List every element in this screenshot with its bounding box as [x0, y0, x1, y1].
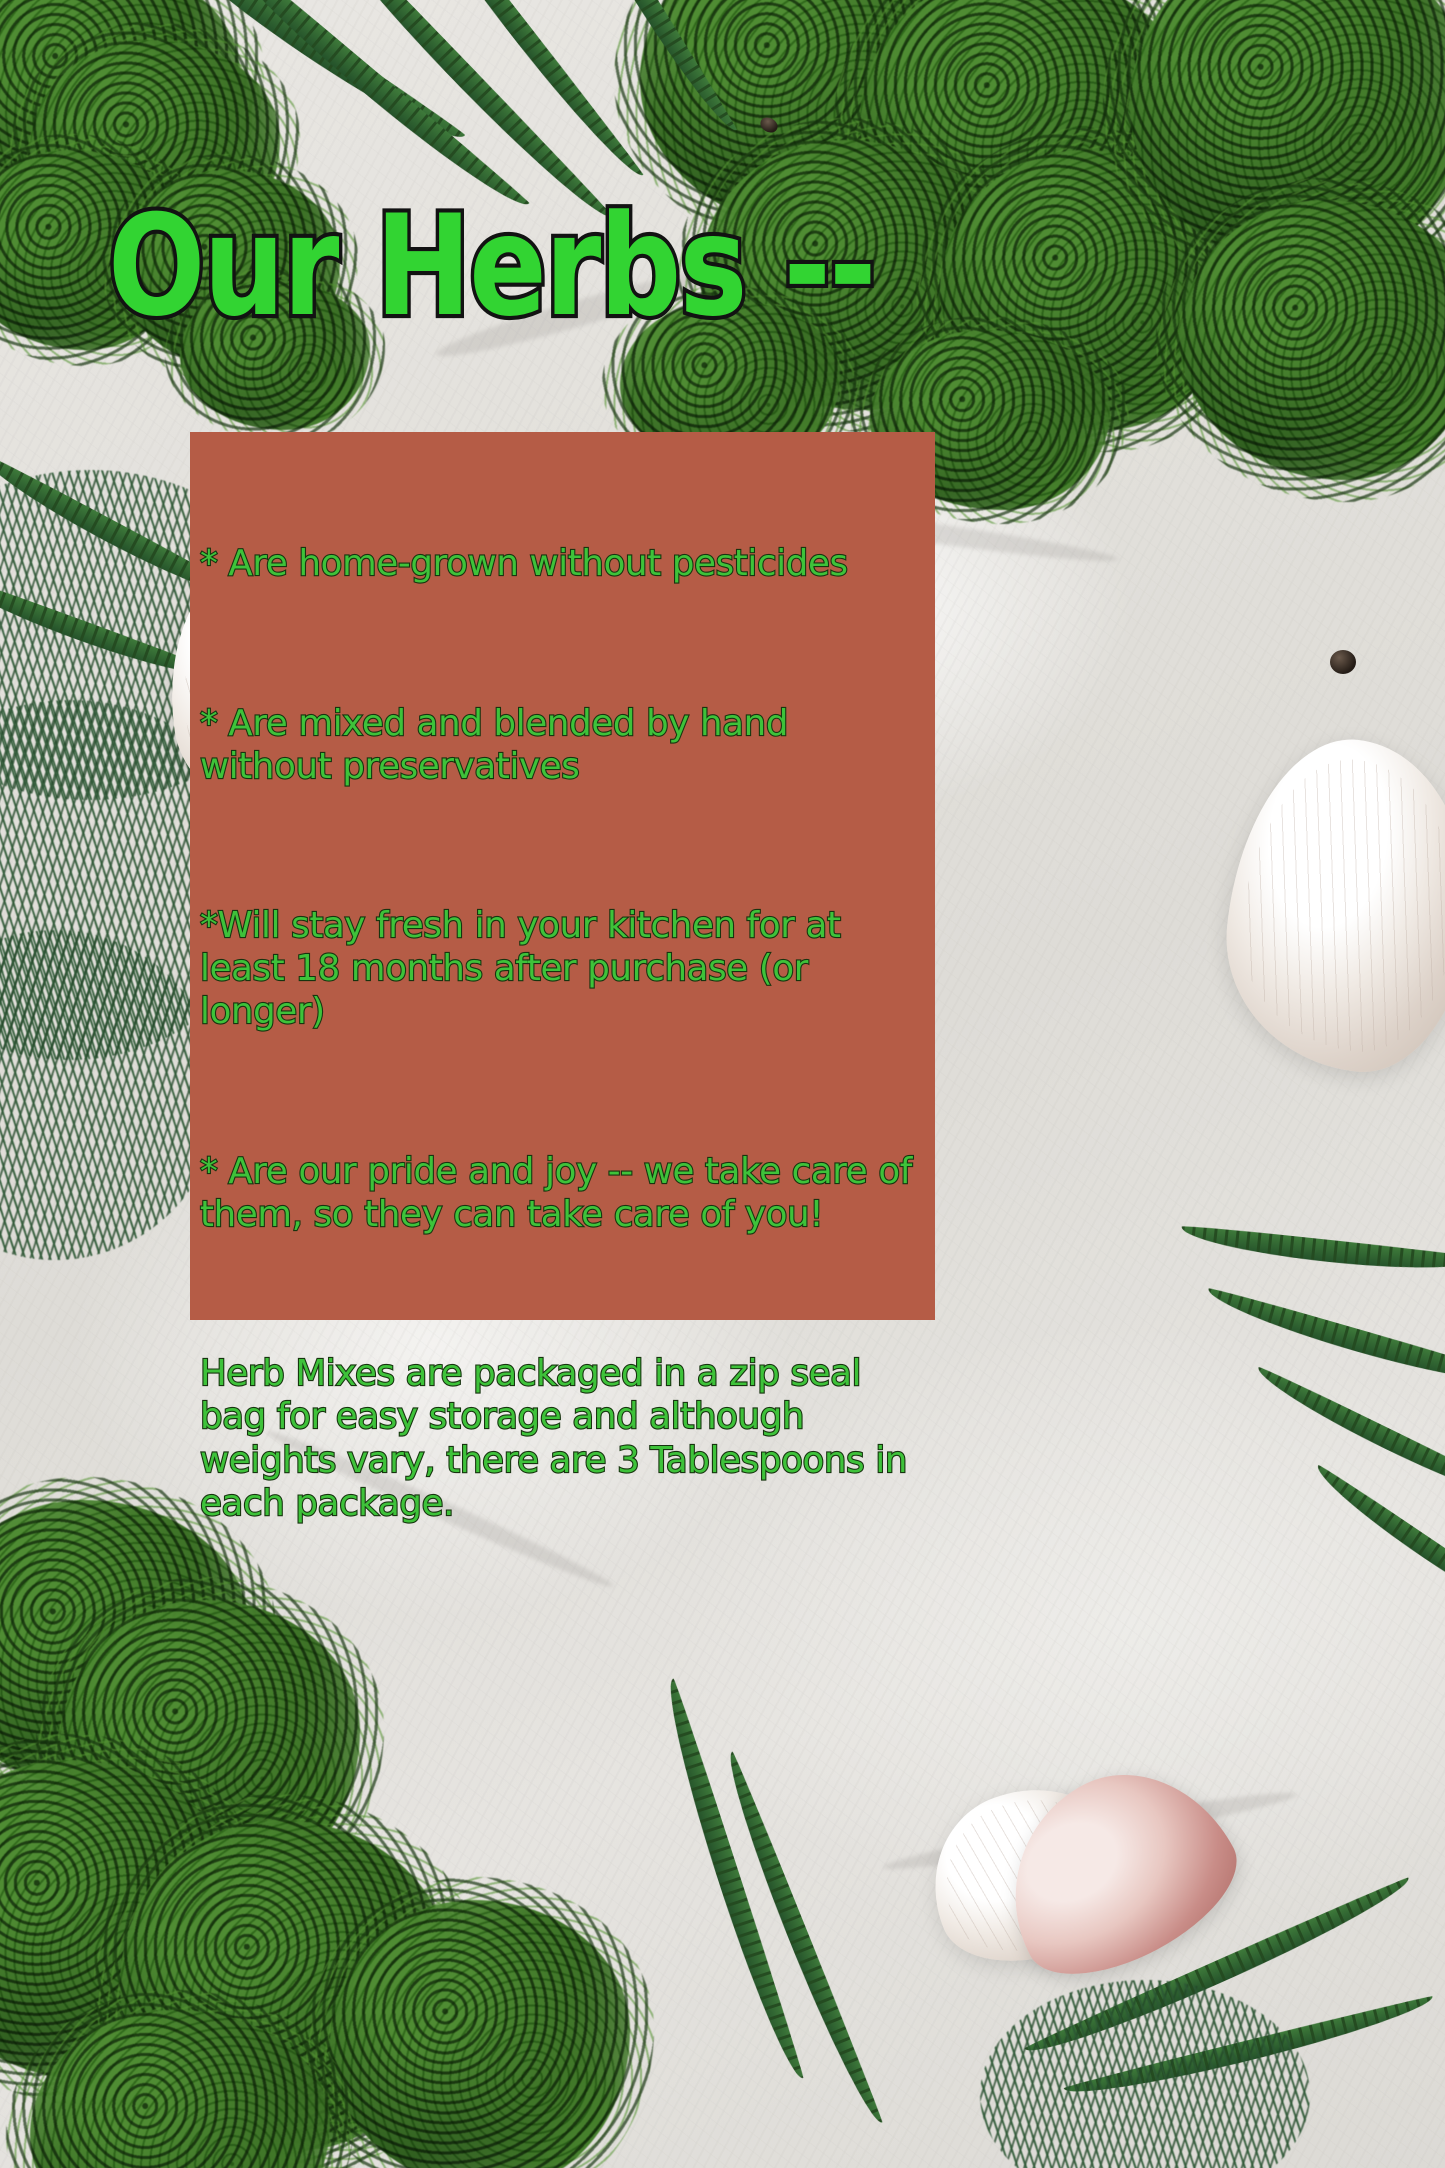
- list-item: *Will stay fresh in your kitchen for at …: [200, 904, 917, 1033]
- parsley-sprig: [30, 2010, 330, 2168]
- list-item: * Are home-grown without pesticides: [200, 542, 917, 585]
- peppercorn: [1330, 650, 1356, 674]
- content-panel: * Are home-grown without pesticides * Ar…: [190, 432, 935, 1320]
- title-container: Our Herbs --: [0, 196, 1445, 314]
- poster-canvas: Our Herbs -- * Are home-grown without pe…: [0, 0, 1445, 2168]
- list-item: * Are mixed and blended by hand without …: [200, 702, 917, 788]
- page-title: Our Herbs --: [108, 196, 1405, 335]
- parsley-sprig: [330, 1900, 630, 2168]
- benefits-list: * Are home-grown without pesticides * Ar…: [200, 456, 917, 1611]
- packaging-note: Herb Mixes are packaged in a zip seal ba…: [200, 1352, 917, 1525]
- list-item: * Are our pride and joy -- we take care …: [200, 1150, 917, 1236]
